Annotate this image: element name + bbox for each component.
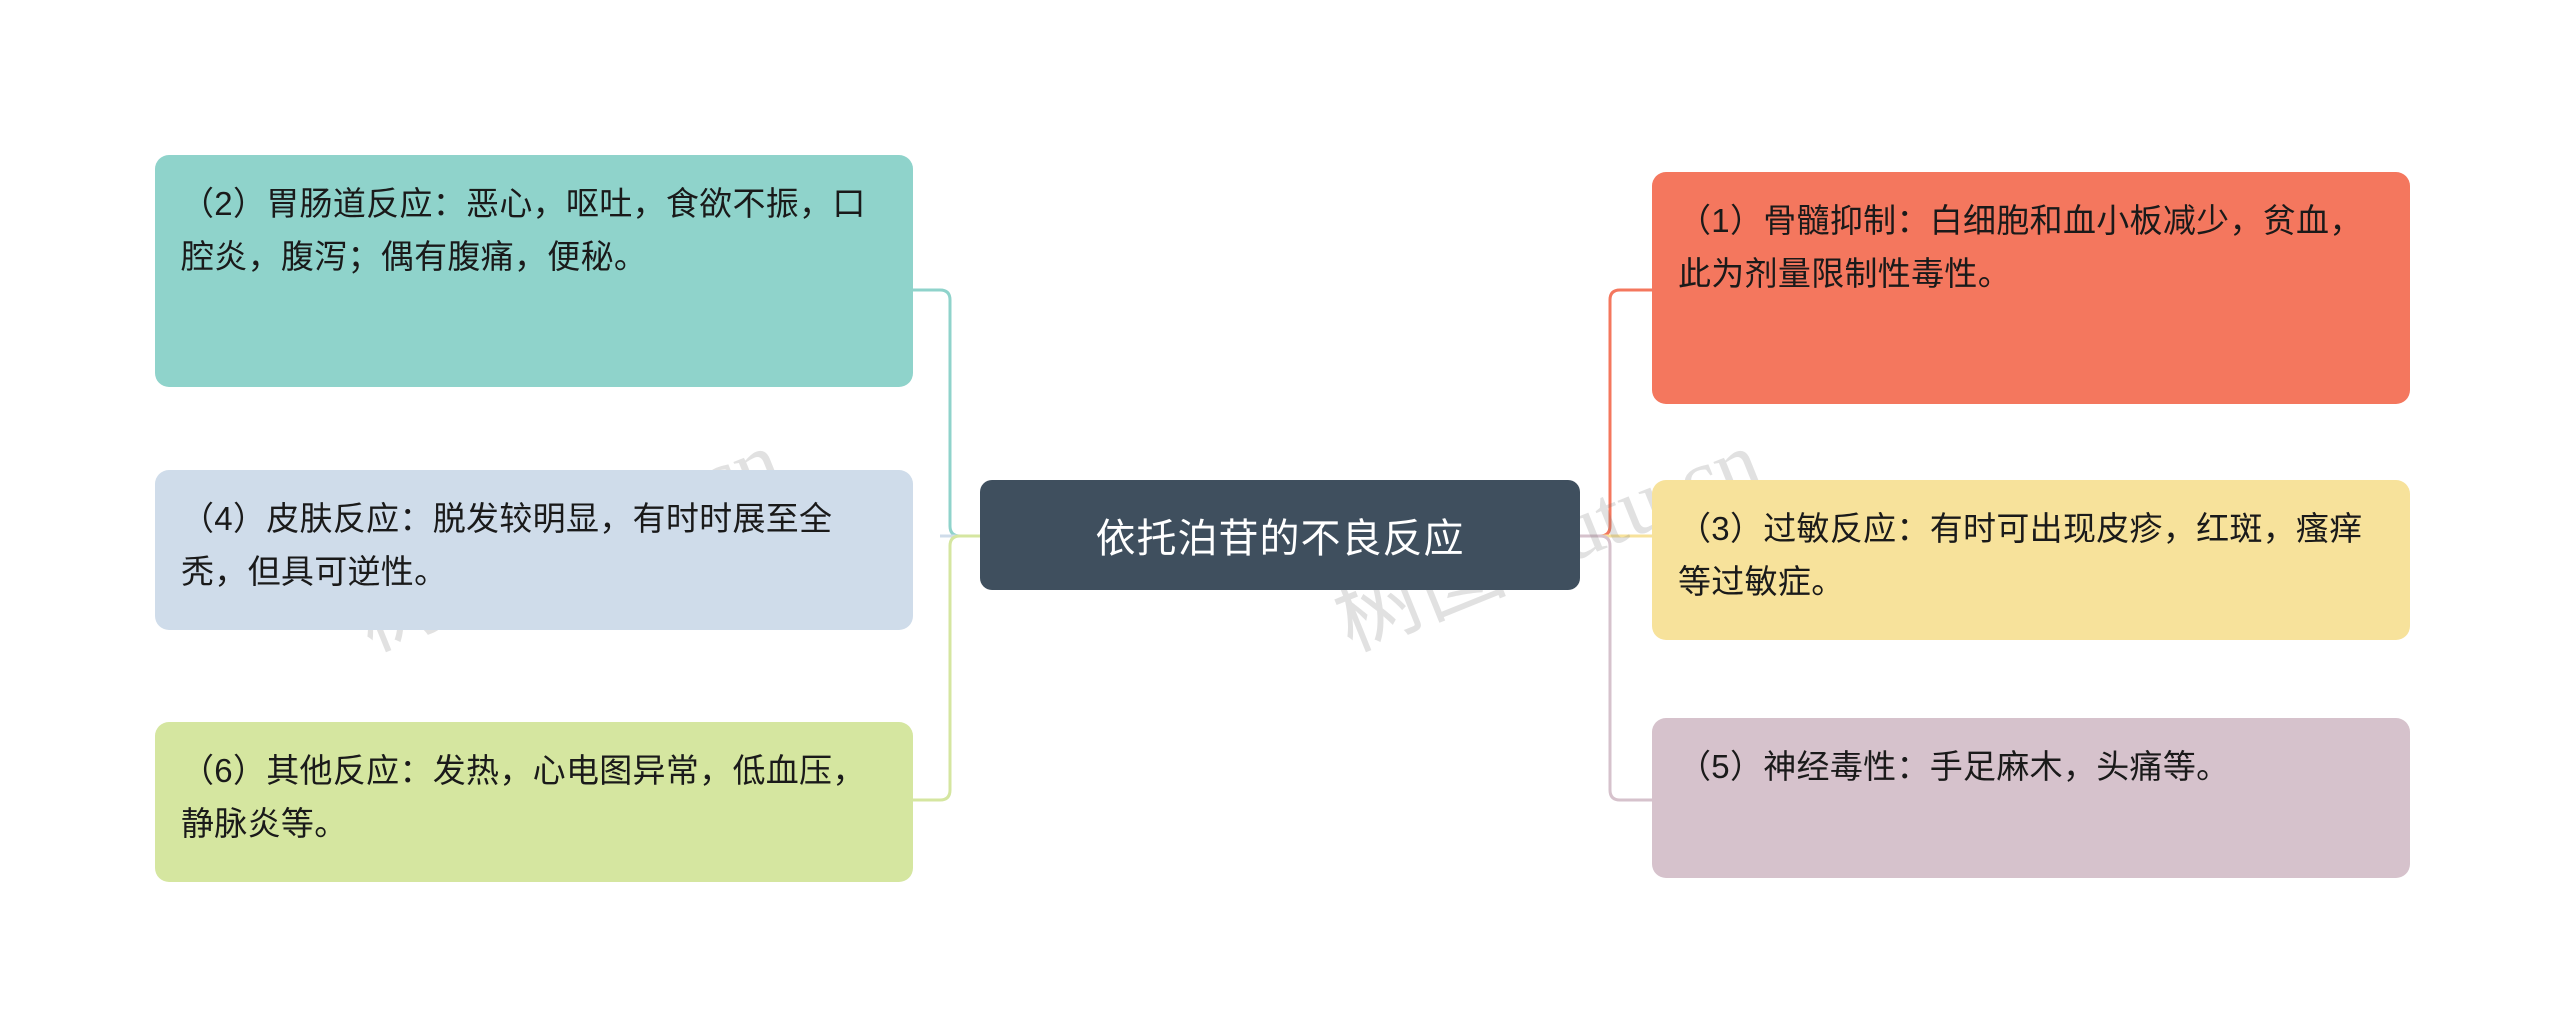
node-left-3-label: （6）其他反应：发热，心电图异常，低血压，静脉炎等。 xyxy=(181,752,866,842)
node-left-1-label: （2）胃肠道反应：恶心，呕吐，食欲不振，口腔炎，腹泻；偶有腹痛，便秘。 xyxy=(181,185,866,275)
mindmap-canvas: 树图 ∂utu.cn 树图 ∂utu.cn 依托泊苷的不良反应 （2）胃肠道反应… xyxy=(0,0,2560,1036)
node-right-2-label: （3）过敏反应：有时可出现皮疹，红斑，瘙痒等过敏症。 xyxy=(1678,510,2363,600)
node-left-1[interactable]: （2）胃肠道反应：恶心，呕吐，食欲不振，口腔炎，腹泻；偶有腹痛，便秘。 xyxy=(155,155,913,387)
node-left-2-label: （4）皮肤反应：脱发较明显，有时时展至全秃，但具可逆性。 xyxy=(181,500,832,590)
node-right-1-label: （1）骨髓抑制：白细胞和血小板减少，贫血，此为剂量限制性毒性。 xyxy=(1678,202,2363,292)
node-right-3-label: （5）神经毒性：手足麻木，头痛等。 xyxy=(1678,748,2229,785)
node-left-2[interactable]: （4）皮肤反应：脱发较明显，有时时展至全秃，但具可逆性。 xyxy=(155,470,913,630)
node-right-2[interactable]: （3）过敏反应：有时可出现皮疹，红斑，瘙痒等过敏症。 xyxy=(1652,480,2410,640)
node-right-3[interactable]: （5）神经毒性：手足麻木，头痛等。 xyxy=(1652,718,2410,878)
node-right-1[interactable]: （1）骨髓抑制：白细胞和血小板减少，贫血，此为剂量限制性毒性。 xyxy=(1652,172,2410,404)
root-node-label: 依托泊苷的不良反应 xyxy=(1096,506,1465,564)
root-node[interactable]: 依托泊苷的不良反应 xyxy=(980,480,1580,590)
node-left-3[interactable]: （6）其他反应：发热，心电图异常，低血压，静脉炎等。 xyxy=(155,722,913,882)
